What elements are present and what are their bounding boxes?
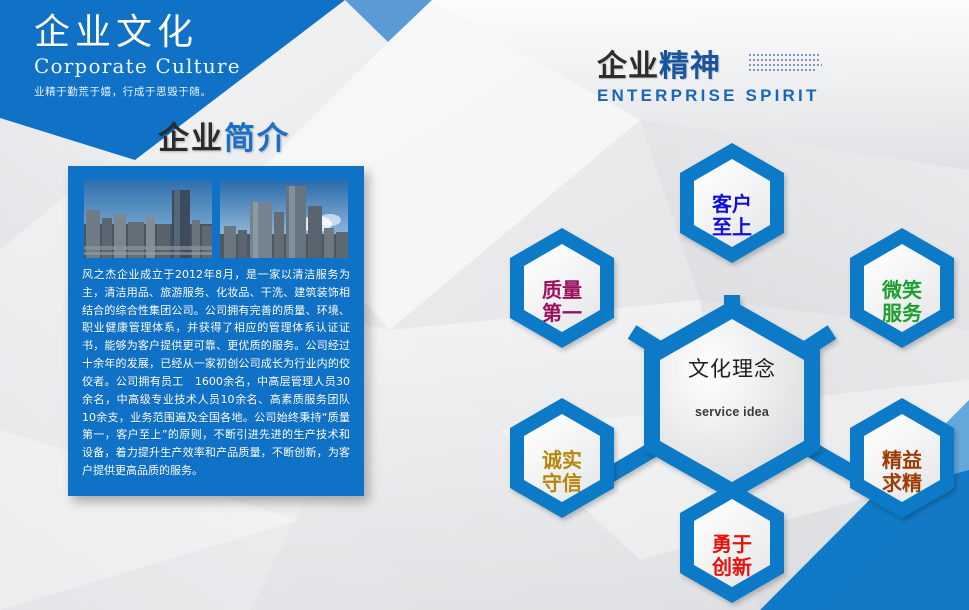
hex-node-quality-first [510,228,614,348]
section-title-company-profile: 企业简介 [158,113,290,158]
spirit-heading: 企业精神 ENTERPRISE SPIRIT [597,50,827,106]
poster-canvas: 企业文化 Corporate Culture 业精于勤荒于嬉，行成于思毁于随。 … [0,0,969,610]
banner-title-cn: 企业文化 [34,14,304,52]
section-title-part-1: 企业 [158,121,224,157]
hex-node-excellence [850,398,954,518]
spirit-title-part-2: 精神 [659,49,721,84]
spirit-title-part-1: 企业 [597,49,659,84]
hexagon-svg [490,110,969,610]
photo-towers [220,180,348,258]
company-profile-text: 风之杰企业成立于2012年8月，是一家以清洁服务为主，清洁用品、旅游服务、化妆品… [68,258,364,490]
hex-node-innovation [680,483,784,603]
culture-hexagon-diagram: 客户至上 质量第一 微笑服务 诚实守信 精益求精 勇于创新 文化理念 servi… [490,110,969,610]
hex-node-integrity [510,398,614,518]
banner-subtitle: 业精于勤荒于嬉，行成于思毁于随。 [34,84,304,99]
photo-city-skyline [84,180,212,258]
hex-center [644,300,820,500]
company-profile-panel: 风之杰企业成立于2012年8月，是一家以清洁服务为主，清洁用品、旅游服务、化妆品… [68,166,364,496]
photo-row [68,166,364,258]
banner-title-en: Corporate Culture [34,54,304,78]
banner-text-block: 企业文化 Corporate Culture 业精于勤荒于嬉，行成于思毁于随。 [34,14,304,99]
hex-node-smile-service [850,228,954,348]
decorative-microtext [749,54,823,82]
section-title-part-2: 简介 [224,121,290,157]
spirit-title-en: ENTERPRISE SPIRIT [597,86,827,106]
hex-node-customer-first [680,143,784,263]
